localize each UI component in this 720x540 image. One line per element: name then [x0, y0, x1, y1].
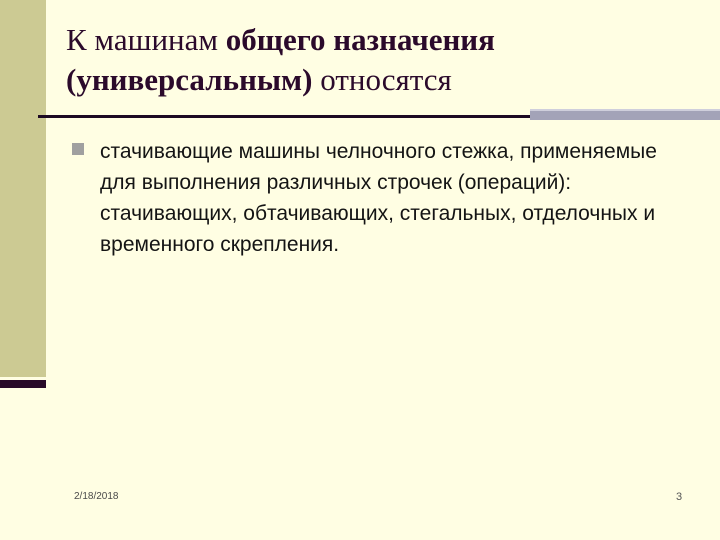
footer-date: 2/18/2018: [74, 491, 119, 502]
title-line-1-emphasis: общего назначения: [226, 22, 495, 57]
title-line-2-emphasis: (универсальным): [66, 62, 313, 97]
slide-title: К машинам общего назначения (универсальн…: [66, 20, 686, 100]
square-bullet-icon: [72, 143, 84, 155]
title-line-2: (универсальным) относятся: [66, 60, 686, 100]
left-decorative-band: [0, 0, 46, 377]
title-line-1-prefix: К машинам: [66, 22, 226, 57]
title-line-2-suffix: относятся: [313, 62, 452, 97]
list-item: стачивающие машины челночного стежка, пр…: [72, 136, 672, 260]
list-item-text: стачивающие машины челночного стежка, пр…: [100, 140, 657, 256]
slide-body: стачивающие машины челночного стежка, пр…: [72, 136, 672, 260]
title-line-1: К машинам общего назначения: [66, 20, 686, 60]
title-rule-accent-bar: [530, 109, 720, 120]
footer-page-number: 3: [676, 491, 682, 503]
left-band-accent-bar: [0, 380, 46, 388]
presentation-slide: К машинам общего назначения (универсальн…: [0, 0, 720, 540]
